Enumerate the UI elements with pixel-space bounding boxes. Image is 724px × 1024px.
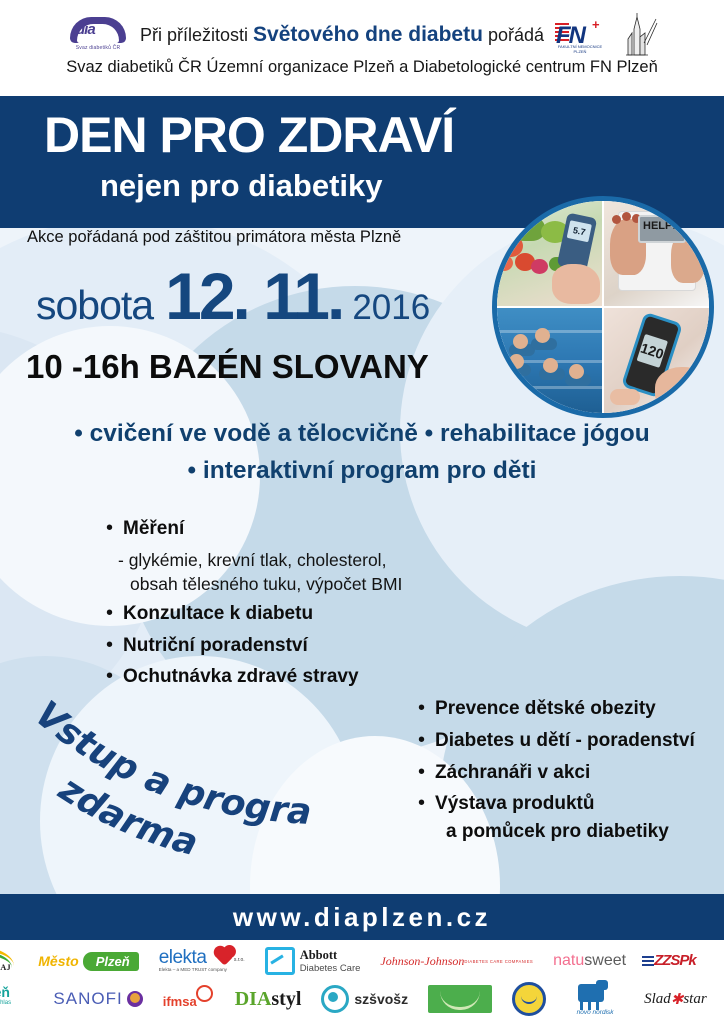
sponsor-label: SANOFI: [53, 989, 122, 1009]
list-item-label: Konzultace k diabetu: [123, 603, 313, 625]
website-band[interactable]: www.diaplzen.cz: [0, 894, 724, 940]
sponsor-sublabel: DIABETES CARE COMPANIES: [464, 959, 533, 964]
photo-pool-exercise: [497, 308, 602, 413]
activities-line-2: • interaktivní program pro děti: [0, 457, 724, 485]
activities-line-1: • cvičení ve vodě a tělocvičně • rehabil…: [0, 420, 724, 448]
sponsor-logo-novo-nordisk: novo nordisk: [566, 982, 624, 1016]
list-item: • Výstava produktů: [418, 793, 718, 816]
bullet-icon: •: [418, 793, 425, 813]
bullet-icon: •: [418, 698, 425, 718]
list-item-label: Ochutnávka zdravé stravy: [123, 666, 359, 688]
sanofi-mark-icon: [127, 991, 143, 1007]
bullet-icon: •: [418, 730, 425, 750]
photo-foot-on-scale: HELP!: [604, 201, 709, 306]
photo-lancet-test: 120: [604, 308, 709, 413]
list-item: • Konzultace k diabetu: [106, 603, 486, 625]
sponsor-label: natu: [553, 952, 584, 970]
circle-icon: [196, 985, 213, 1002]
patronage-text: Akce pořádaná pod záštitou primátora měs…: [27, 228, 401, 247]
bullet-icon: •: [106, 635, 113, 655]
poster-header: dia Svaz diabetiků ČR Při příležitosti S…: [0, 0, 724, 96]
sponsor-logo-natusweet: natusweet: [553, 952, 626, 970]
list-item-label: Výstava produktů: [435, 793, 594, 816]
sponsor-label: Slad: [644, 991, 671, 1008]
sponsor-logo-sladastar: Slad✱star: [644, 990, 707, 1009]
website-url[interactable]: www.diaplzen.cz: [0, 894, 724, 940]
sponsor-logo-badge: [512, 982, 546, 1016]
header-organizer-line: Při příležitosti Světového dne diabetu p…: [140, 23, 544, 47]
glucometer-device: 5.7: [557, 212, 598, 271]
sponsor-label: Johnson-Johnson: [380, 954, 464, 969]
scale-display: HELP!: [638, 215, 686, 243]
sponsors-section: PLZEŇSKÝ KRAJ Město Plzeň elekta s.r.o. …: [0, 940, 724, 1024]
services-list-right: • Prevence dětské obezity • Diabetes u d…: [418, 698, 718, 843]
list-item: • Diabetes u dětí - poradenství: [418, 730, 718, 753]
photo-vegetables-glucometer: 5.7: [497, 201, 602, 306]
dia-logo-caption: Svaz diabetiků ČR: [66, 45, 130, 51]
sponsor-label-2: Plzeň: [83, 952, 139, 971]
dia-logo-icon: dia Svaz diabetiků ČR: [66, 15, 130, 55]
sponsor-logo-green: [428, 985, 492, 1013]
fn-logo-caption: FAKULTNÍ NEMOCNICE PLZEŇ: [554, 44, 606, 54]
list-item: • Ochutnávka zdravé stravy: [106, 666, 486, 688]
abbott-mark-icon: [265, 947, 295, 975]
sponsors-row-1: PLZEŇSKÝ KRAJ Město Plzeň elekta s.r.o. …: [0, 944, 724, 978]
list-item-label: Záchranáři v akci: [435, 762, 590, 785]
sponsor-logo-mesto-plzen: Město Plzeň: [38, 952, 138, 971]
list-item-sub: obsah tělesného tuku, výpočet BMI: [130, 573, 486, 595]
sponsors-row-2: Plzeň Český rozhlas SANOFI ifmsa DIAstyl: [0, 980, 724, 1018]
sponsor-label: elekta: [159, 947, 207, 968]
szs-mark-icon: [321, 985, 349, 1013]
sponsor-logo-diastyl: DIAstyl: [235, 988, 302, 1011]
sponsor-logo-szsvosz: szšvošz: [321, 985, 408, 1013]
list-item-label: Měření: [123, 518, 184, 540]
services-list-left: • Měření - glykémie, krevní tlak, choles…: [106, 518, 486, 697]
sponsor-label: DIA: [235, 988, 272, 1011]
scale-display-text: HELP!: [643, 220, 684, 232]
stripes-icon: [642, 956, 654, 967]
star-icon: ✱: [671, 990, 684, 1009]
event-day-name: sobota: [36, 282, 153, 329]
sponsor-label: Město: [38, 953, 78, 969]
sponsor-label-2: styl: [271, 988, 301, 1011]
event-time-venue: 10 -16h BAZÉN SLOVANY: [26, 348, 429, 386]
list-item: • Prevence dětské obezity: [418, 698, 718, 721]
photo-collage-circle: 5.7 HELP!: [492, 196, 714, 418]
sponsor-label: novo nordisk: [566, 1009, 624, 1016]
header-pre-text: Při příležitosti: [140, 25, 248, 45]
header-line-1: dia Svaz diabetiků ČR Při příležitosti S…: [0, 14, 724, 56]
list-item-label: Diabetes u dětí - poradenství: [435, 730, 695, 753]
sponsor-label-2: Diabetes Care: [300, 963, 361, 974]
sponsor-label: ZZSPk: [654, 952, 696, 969]
sponsor-label: szšvošz: [354, 991, 408, 1007]
sponsor-label-2: Český rozhlas: [0, 1000, 11, 1006]
list-item-sub: - glykémie, krevní tlak, cholesterol,: [118, 549, 486, 571]
header-line-2: Svaz diabetiků ČR Územní organizace Plze…: [0, 58, 724, 77]
fn-plzen-logo-icon: FN + FAKULTNÍ NEMOCNICE PLZEŇ: [554, 16, 606, 54]
sponsor-logo-plzensky-kraj: PLZEŇSKÝ KRAJ: [0, 946, 18, 976]
bullet-icon: •: [106, 518, 113, 538]
page-subtitle: nejen pro diabetiky: [100, 170, 383, 201]
device-reading: 120: [637, 334, 668, 368]
sponsor-logo-johnson-johnson: Johnson-Johnson DIABETES CARE COMPANIES: [380, 954, 533, 969]
sponsor-label-2: sweet: [584, 952, 626, 970]
sponsor-label: PLZEŇSKÝ KRAJ: [0, 963, 18, 972]
badge-icon: [512, 982, 546, 1016]
sponsor-logo-elekta: elekta s.r.o. Elekta – a MED TRUST compa…: [159, 947, 245, 975]
sponsor-logo-cesky-rozhlas-plzen: Plzeň Český rozhlas: [0, 984, 33, 1014]
header-strong-text: Světového dne diabetu: [253, 23, 483, 46]
bullet-icon: •: [418, 762, 425, 782]
green-logo-icon: [428, 985, 492, 1013]
list-item-label: Nutriční poradenství: [123, 635, 308, 657]
sponsor-label: ifmsa: [163, 994, 197, 1009]
sponsor-tagline: Elekta – a MED TRUST company: [159, 967, 227, 972]
sponsor-label: Abbott: [300, 948, 361, 963]
bullet-icon: •: [106, 666, 113, 686]
glucometer-reading: 5.7: [567, 220, 592, 242]
sponsor-label-2: star: [683, 991, 706, 1008]
sponsor-logo-ifmsa: ifmsa: [163, 985, 215, 1013]
sponsor-label: Plzeň: [0, 984, 10, 1000]
list-item: • Měření: [106, 518, 486, 540]
bullet-icon: •: [106, 603, 113, 623]
medical-cross-icon: +: [592, 20, 602, 30]
sponsor-logo-zzspk: ZZSPk: [646, 950, 704, 972]
list-item: • Nutriční poradenství: [106, 635, 486, 657]
list-item-label: Prevence dětské obezity: [435, 698, 656, 721]
sponsor-suffix: s.r.o.: [234, 957, 245, 963]
poster-root: dia Svaz diabetiků ČR Při příležitosti S…: [0, 0, 724, 1024]
heart-icon: [215, 947, 233, 965]
sponsor-logo-sanofi: SANOFI: [53, 989, 142, 1009]
header-post-text: pořádá: [488, 25, 544, 45]
cathedral-sketch-icon: [616, 13, 658, 57]
event-date: 12. 11.: [165, 258, 342, 334]
list-item-continuation: a pomůcek pro diabetiky: [446, 821, 718, 843]
list-item: • Záchranáři v akci: [418, 762, 718, 785]
sponsor-logo-abbott: Abbott Diabetes Care: [265, 947, 361, 975]
page-title: DEN PRO ZDRAVÍ: [44, 110, 454, 160]
dia-logo-word: dia: [76, 21, 95, 38]
event-date-row: sobota 12. 11. 2016: [36, 258, 430, 334]
event-year: 2016: [352, 288, 430, 328]
